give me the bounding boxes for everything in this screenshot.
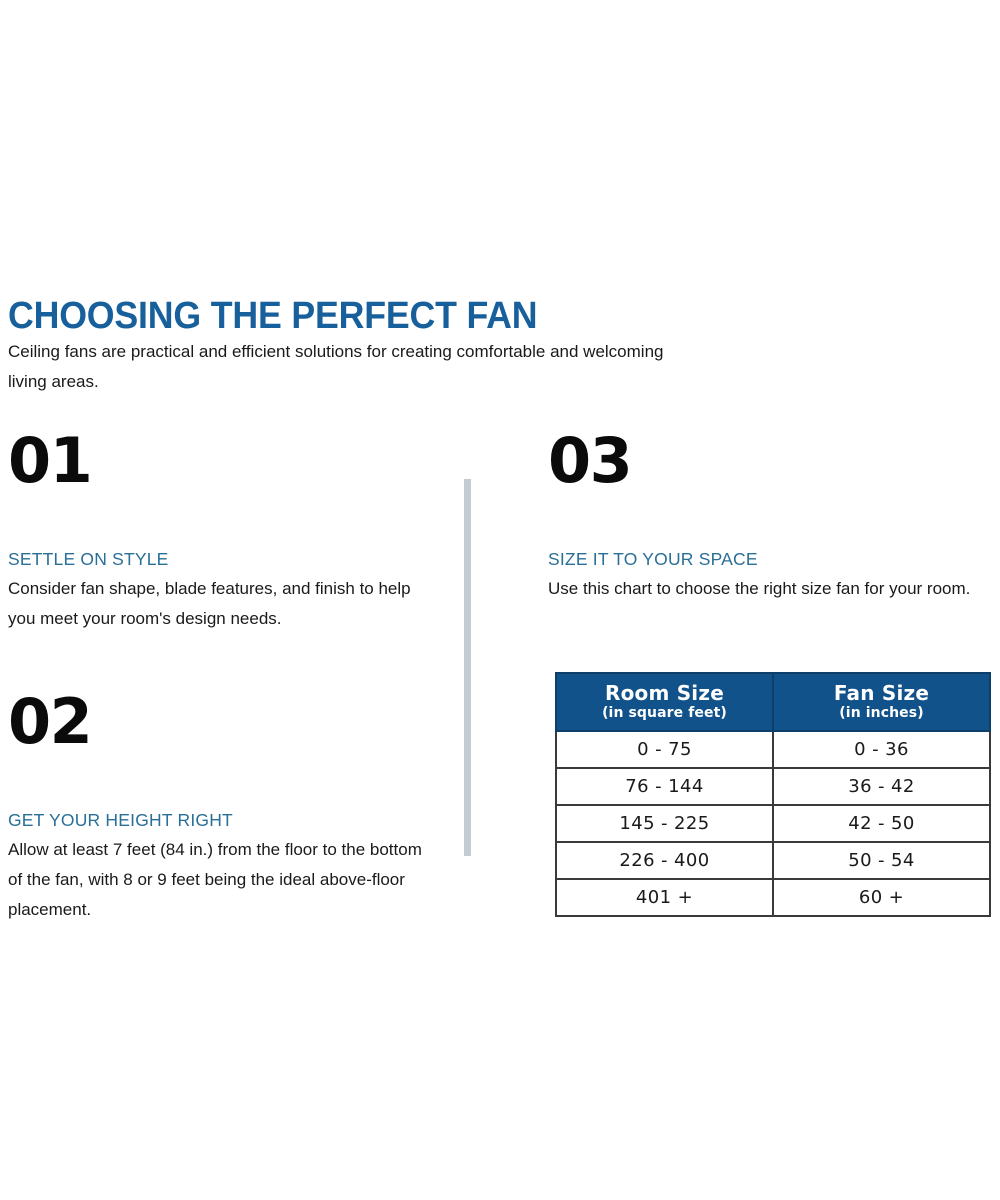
step-number-02: 02 [8, 691, 428, 753]
step-body-01: Consider fan shape, blade features, and … [8, 574, 428, 634]
table-row: 226 - 400 50 - 54 [556, 842, 990, 879]
step-title-01: SETTLE ON STYLE [8, 548, 428, 570]
table-header: Room Size (in square feet) Fan Size (in … [556, 673, 990, 731]
step-title-03: SIZE IT TO YOUR SPACE [548, 548, 993, 570]
table-body: 0 - 75 0 - 36 76 - 144 36 - 42 145 - 225… [556, 731, 990, 916]
step-block-03: 03 SIZE IT TO YOUR SPACE Use this chart … [548, 430, 993, 604]
step-body-03: Use this chart to choose the right size … [548, 574, 993, 604]
cell-room-size: 0 - 75 [556, 731, 773, 768]
cell-room-size: 226 - 400 [556, 842, 773, 879]
left-column: 01 SETTLE ON STYLE Consider fan shape, b… [8, 430, 428, 925]
table-header-room-size-sub: (in square feet) [557, 704, 772, 722]
column-divider [464, 479, 471, 856]
cell-fan-size: 42 - 50 [773, 805, 990, 842]
cell-fan-size: 50 - 54 [773, 842, 990, 879]
cell-fan-size: 36 - 42 [773, 768, 990, 805]
table-row: 401 + 60 + [556, 879, 990, 916]
intro-paragraph: Ceiling fans are practical and efficient… [8, 337, 698, 397]
table-row: 145 - 225 42 - 50 [556, 805, 990, 842]
table-header-row: Room Size (in square feet) Fan Size (in … [556, 673, 990, 731]
cell-fan-size: 60 + [773, 879, 990, 916]
table-header-fan-size-main: Fan Size [774, 682, 989, 704]
table-header-fan-size: Fan Size (in inches) [773, 673, 990, 731]
cell-fan-size: 0 - 36 [773, 731, 990, 768]
page-title: CHOOSING THE PERFECT FAN [8, 294, 666, 338]
table-header-room-size-main: Room Size [557, 682, 772, 704]
step-block-01: 01 SETTLE ON STYLE Consider fan shape, b… [8, 430, 428, 634]
table-header-fan-size-sub: (in inches) [774, 704, 989, 722]
table-header-room-size: Room Size (in square feet) [556, 673, 773, 731]
table-row: 0 - 75 0 - 36 [556, 731, 990, 768]
right-column: 03 SIZE IT TO YOUR SPACE Use this chart … [548, 430, 993, 604]
cell-room-size: 145 - 225 [556, 805, 773, 842]
cell-room-size: 76 - 144 [556, 768, 773, 805]
table-row: 76 - 144 36 - 42 [556, 768, 990, 805]
cell-room-size: 401 + [556, 879, 773, 916]
step-title-02: GET YOUR HEIGHT RIGHT [8, 809, 428, 831]
step-number-03: 03 [548, 430, 993, 492]
step-number-01: 01 [8, 430, 428, 492]
step-body-02: Allow at least 7 feet (84 in.) from the … [8, 835, 428, 925]
infographic-page: CHOOSING THE PERFECT FAN Ceiling fans ar… [0, 0, 1000, 1200]
fan-size-table: Room Size (in square feet) Fan Size (in … [555, 672, 991, 917]
step-block-02: 02 GET YOUR HEIGHT RIGHT Allow at least … [8, 691, 428, 925]
